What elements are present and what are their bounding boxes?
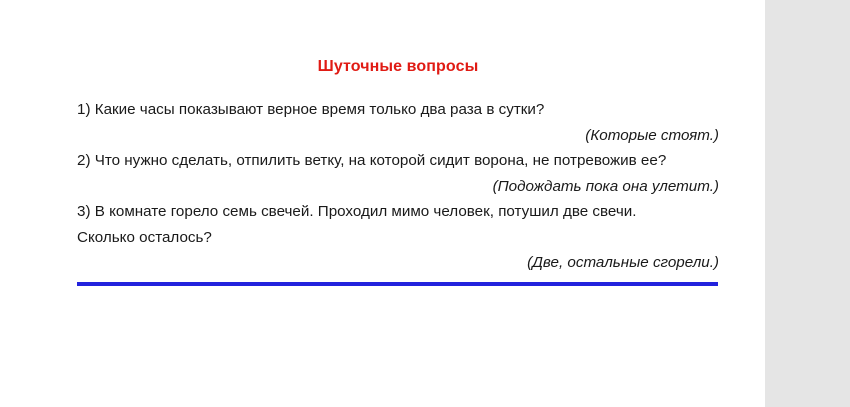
page-title: Шуточные вопросы: [77, 56, 719, 78]
question-text-1: 1) Какие часы показывают верное время то…: [77, 97, 673, 123]
answer-text-1: (Которые стоят.): [77, 123, 719, 149]
slide-canvas: Шуточные вопросы 1) Какие часы показываю…: [0, 0, 850, 407]
right-margin-strip: [765, 0, 850, 407]
answer-text-2: (Подождать пока она улетит.): [77, 174, 719, 200]
slide-page: Шуточные вопросы 1) Какие часы показываю…: [0, 0, 765, 407]
qa-item-2: 2) Что нужно сделать, отпилить ветку, на…: [77, 148, 719, 199]
question-text-3: 3) В комнате горело семь свечей. Проходи…: [77, 199, 673, 250]
horizontal-divider: [77, 282, 718, 286]
answer-text-3: (Две, остальные сгорели.): [77, 250, 719, 276]
content-block: Шуточные вопросы 1) Какие часы показываю…: [77, 56, 719, 276]
qa-item-1: 1) Какие часы показывают верное время то…: [77, 97, 719, 148]
qa-item-3: 3) В комнате горело семь свечей. Проходи…: [77, 199, 719, 276]
question-text-2: 2) Что нужно сделать, отпилить ветку, на…: [77, 148, 673, 174]
